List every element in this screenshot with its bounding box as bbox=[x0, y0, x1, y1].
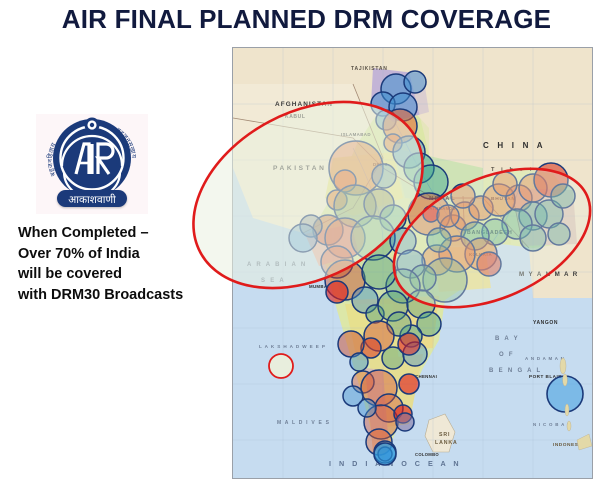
air-logo-svg: बहुजनहिताय बहुजनसुखाय आकाशवाणी bbox=[36, 114, 148, 214]
map-label: I N D I A N O C E A N bbox=[329, 459, 462, 468]
map-label: PAKISTAN bbox=[273, 165, 327, 172]
caption-line-4: with DRM30 Broadcasts bbox=[18, 285, 228, 306]
lakshadweep-outline-circle bbox=[269, 354, 293, 378]
map-label: L A K S H A D W E E P bbox=[259, 344, 326, 349]
map-label: COLOMBO bbox=[415, 452, 439, 457]
map-label: N I C O B A R bbox=[533, 422, 571, 427]
caption-block: When Completed – Over 70% of India will … bbox=[18, 223, 228, 305]
chennai-circle bbox=[399, 374, 419, 394]
map-svg: AFGHANISTANKABULTAJIKISTANPAKISTANISLAMA… bbox=[233, 48, 592, 478]
caption-line-3: will be covered bbox=[18, 264, 228, 285]
india-drm-coverage-map: AFGHANISTANKABULTAJIKISTANPAKISTANISLAMA… bbox=[232, 47, 593, 479]
map-label: O F bbox=[499, 352, 514, 358]
kanyakumari-circle bbox=[374, 443, 396, 465]
coverage-circle bbox=[396, 413, 414, 431]
map-label: M A L D I V E S bbox=[277, 420, 330, 426]
coverage-circle bbox=[427, 228, 451, 252]
map-label: M Y A N M A R bbox=[519, 271, 579, 278]
map-label: KABUL bbox=[285, 114, 306, 120]
coverage-circle bbox=[398, 333, 420, 355]
coverage-circle bbox=[437, 205, 459, 227]
logo-banner-text: आकाशवाणी bbox=[68, 193, 116, 206]
coverage-circle bbox=[289, 224, 317, 252]
coverage-circle bbox=[477, 252, 501, 276]
coverage-circle bbox=[551, 184, 575, 208]
map-label: A R A B I A N bbox=[247, 262, 307, 268]
coverage-circle bbox=[326, 281, 348, 303]
map-label: AFGHANISTAN bbox=[275, 101, 333, 108]
map-label: LANKA bbox=[435, 440, 458, 446]
coverage-circle bbox=[548, 223, 570, 245]
coverage-circle bbox=[451, 184, 475, 208]
caption-line-2: Over 70% of India bbox=[18, 244, 228, 265]
map-label: CHENNAI bbox=[415, 374, 437, 379]
map-label: C H I N A bbox=[483, 141, 546, 150]
coverage-circle bbox=[351, 216, 395, 260]
map-label: SRI bbox=[439, 432, 450, 438]
logo-banner: आकाशवाणी bbox=[57, 190, 127, 207]
coverage-circle bbox=[362, 255, 396, 289]
coverage-circle bbox=[404, 71, 426, 93]
map-label: TAJIKISTAN bbox=[351, 66, 388, 72]
map-label: S E A bbox=[261, 278, 285, 284]
map-label: B A Y bbox=[495, 336, 519, 342]
coverage-circle bbox=[350, 353, 368, 371]
map-label: A N D A M A N bbox=[525, 356, 565, 361]
all-india-radio-logo: बहुजनहिताय बहुजनसुखाय आकाशवाणी bbox=[36, 114, 148, 214]
coverage-circle bbox=[520, 225, 546, 251]
coverage-circle bbox=[358, 399, 376, 417]
caption-line-1: When Completed – bbox=[18, 223, 228, 244]
coverage-circle bbox=[493, 172, 517, 196]
map-label: T i b e t bbox=[491, 167, 534, 173]
map-label: ISLAMABAD bbox=[341, 132, 371, 137]
logo-top-emblem-core bbox=[90, 123, 94, 127]
coverage-circle bbox=[372, 164, 396, 188]
map-label: YANGON bbox=[533, 320, 558, 326]
page-title: AIR FINAL PLANNED DRM COVERAGE bbox=[0, 4, 613, 35]
